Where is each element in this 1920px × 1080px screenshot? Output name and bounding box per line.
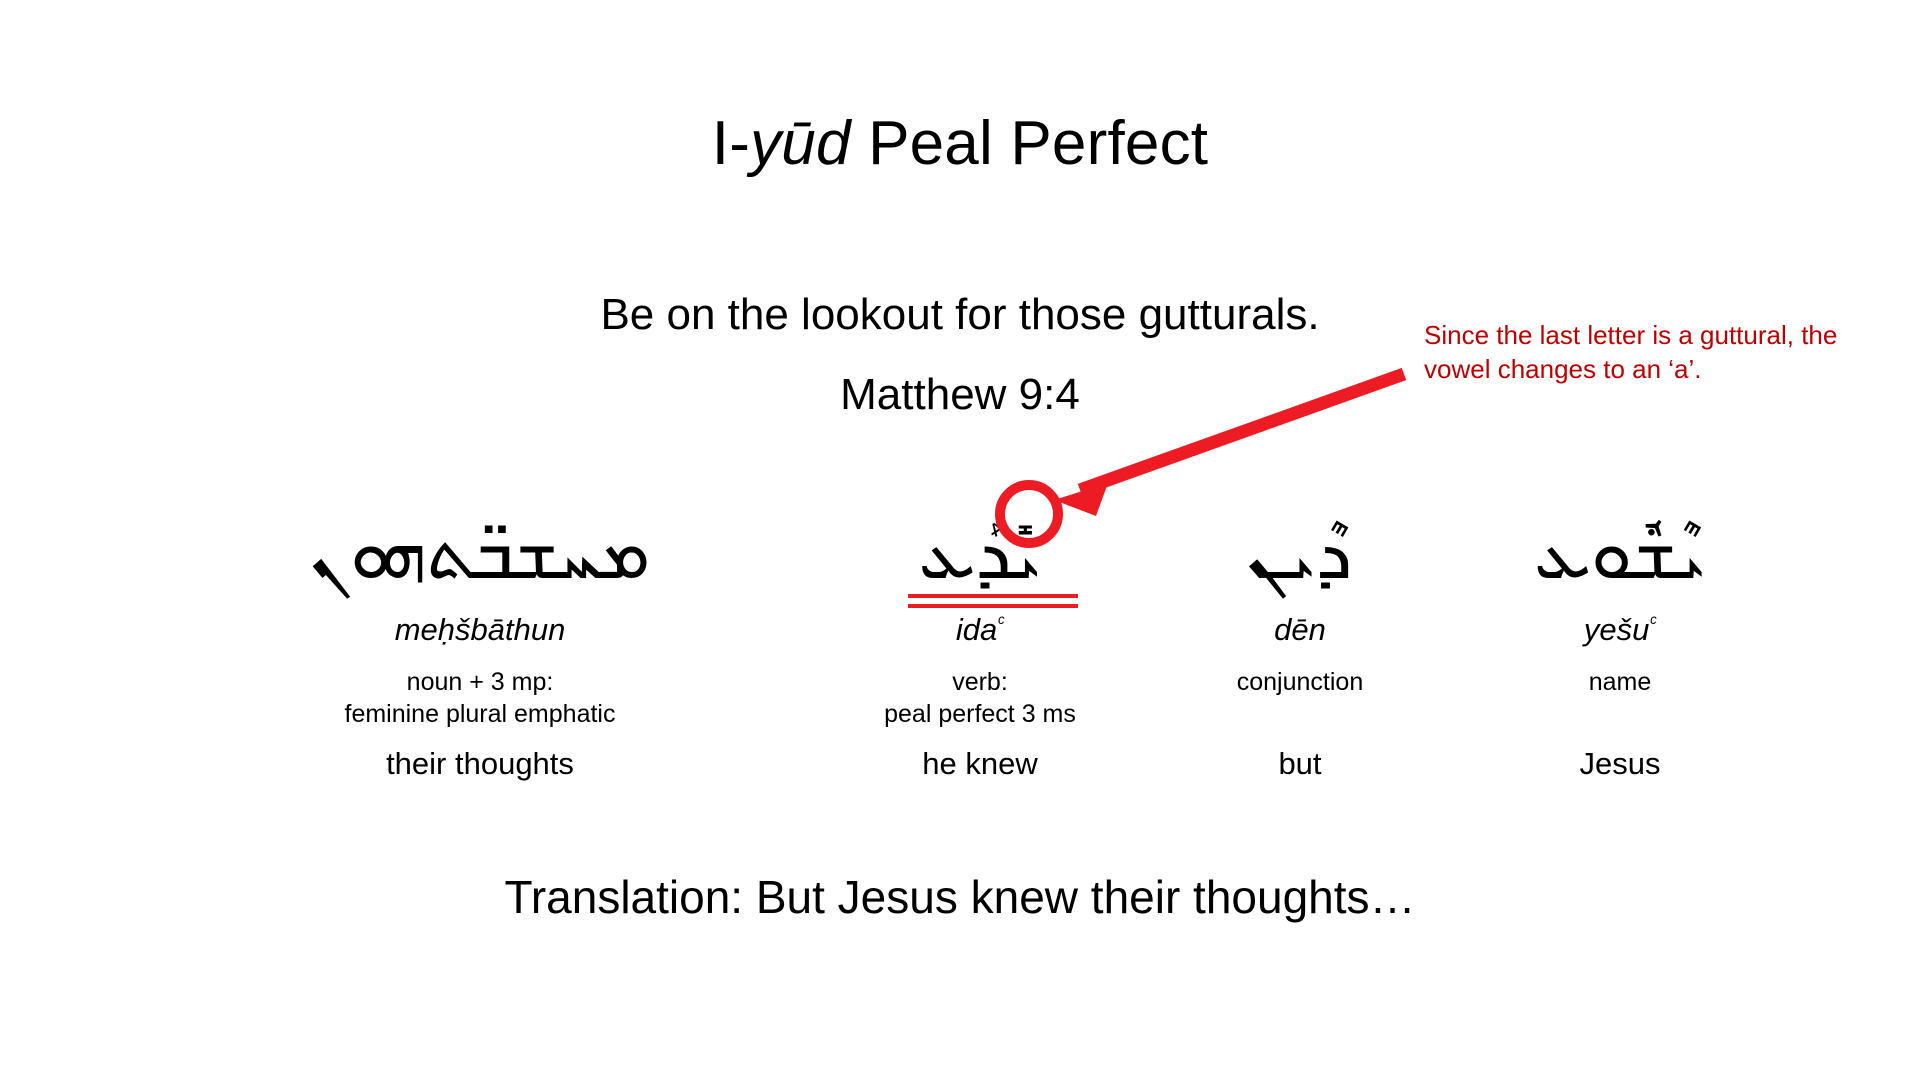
title-suffix: Peal Perfect — [851, 109, 1209, 178]
transliteration-3-base: dēn — [1274, 612, 1326, 647]
word-analysis-table: ܡܚܫܒ̈ܬܗܘܢ meḥšbāthun noun + 3 mp: femini… — [0, 470, 1920, 830]
parsing-2-line-1: verb: — [830, 666, 1130, 698]
parsing-2-line-2: peal perfect 3 ms — [830, 698, 1130, 730]
transliteration-4-superscript: ᶜ — [1649, 613, 1656, 634]
annotation-note-text: Since the last letter is a guttural, the… — [1424, 318, 1894, 387]
transliteration-3: dēn — [1160, 612, 1440, 648]
syriac-word-3: ܕܶܝܢ — [1247, 470, 1352, 590]
transliteration-1: meḥšbāthun — [230, 612, 730, 648]
transliteration-4-base: yešu — [1584, 612, 1649, 647]
parsing-3: conjunction — [1160, 666, 1440, 698]
syriac-word-4: ܝܶܫܽܘܥ — [1534, 470, 1706, 590]
title-prefix: I- — [712, 109, 750, 178]
syriac-word-1: ܡܚܫܒ̈ܬܗܘܢ — [310, 470, 650, 590]
page-title: I-yūd Peal Perfect — [0, 110, 1920, 178]
gloss-2: he knew — [830, 746, 1130, 782]
transliteration-1-base: meḥšbāthun — [395, 612, 566, 647]
parsing-1-line-1: noun + 3 mp: — [230, 666, 730, 698]
parsing-3-line-1: conjunction — [1160, 666, 1440, 698]
transliteration-2-superscript: ᶜ — [997, 613, 1004, 634]
gloss-4: Jesus — [1460, 746, 1780, 782]
gloss-1: their thoughts — [230, 746, 730, 782]
transliteration-4: yešuᶜ — [1460, 612, 1780, 648]
gloss-3: but — [1160, 746, 1440, 782]
translation-line: Translation: But Jesus knew their though… — [0, 870, 1920, 924]
transliteration-2: idaᶜ — [830, 612, 1130, 648]
slide-canvas: I-yūd Peal Perfect Be on the lookout for… — [0, 0, 1920, 1080]
parsing-1-line-2: feminine plural emphatic — [230, 698, 730, 730]
title-italic-term: yūd — [750, 109, 851, 178]
transliteration-2-base: ida — [956, 612, 997, 647]
parsing-1: noun + 3 mp: feminine plural emphatic — [230, 666, 730, 730]
parsing-2: verb: peal perfect 3 ms — [830, 666, 1130, 730]
parsing-4: name — [1460, 666, 1780, 698]
parsing-4-line-1: name — [1460, 666, 1780, 698]
syriac-word-2: ܝܺܕܰܥ — [919, 470, 1042, 590]
